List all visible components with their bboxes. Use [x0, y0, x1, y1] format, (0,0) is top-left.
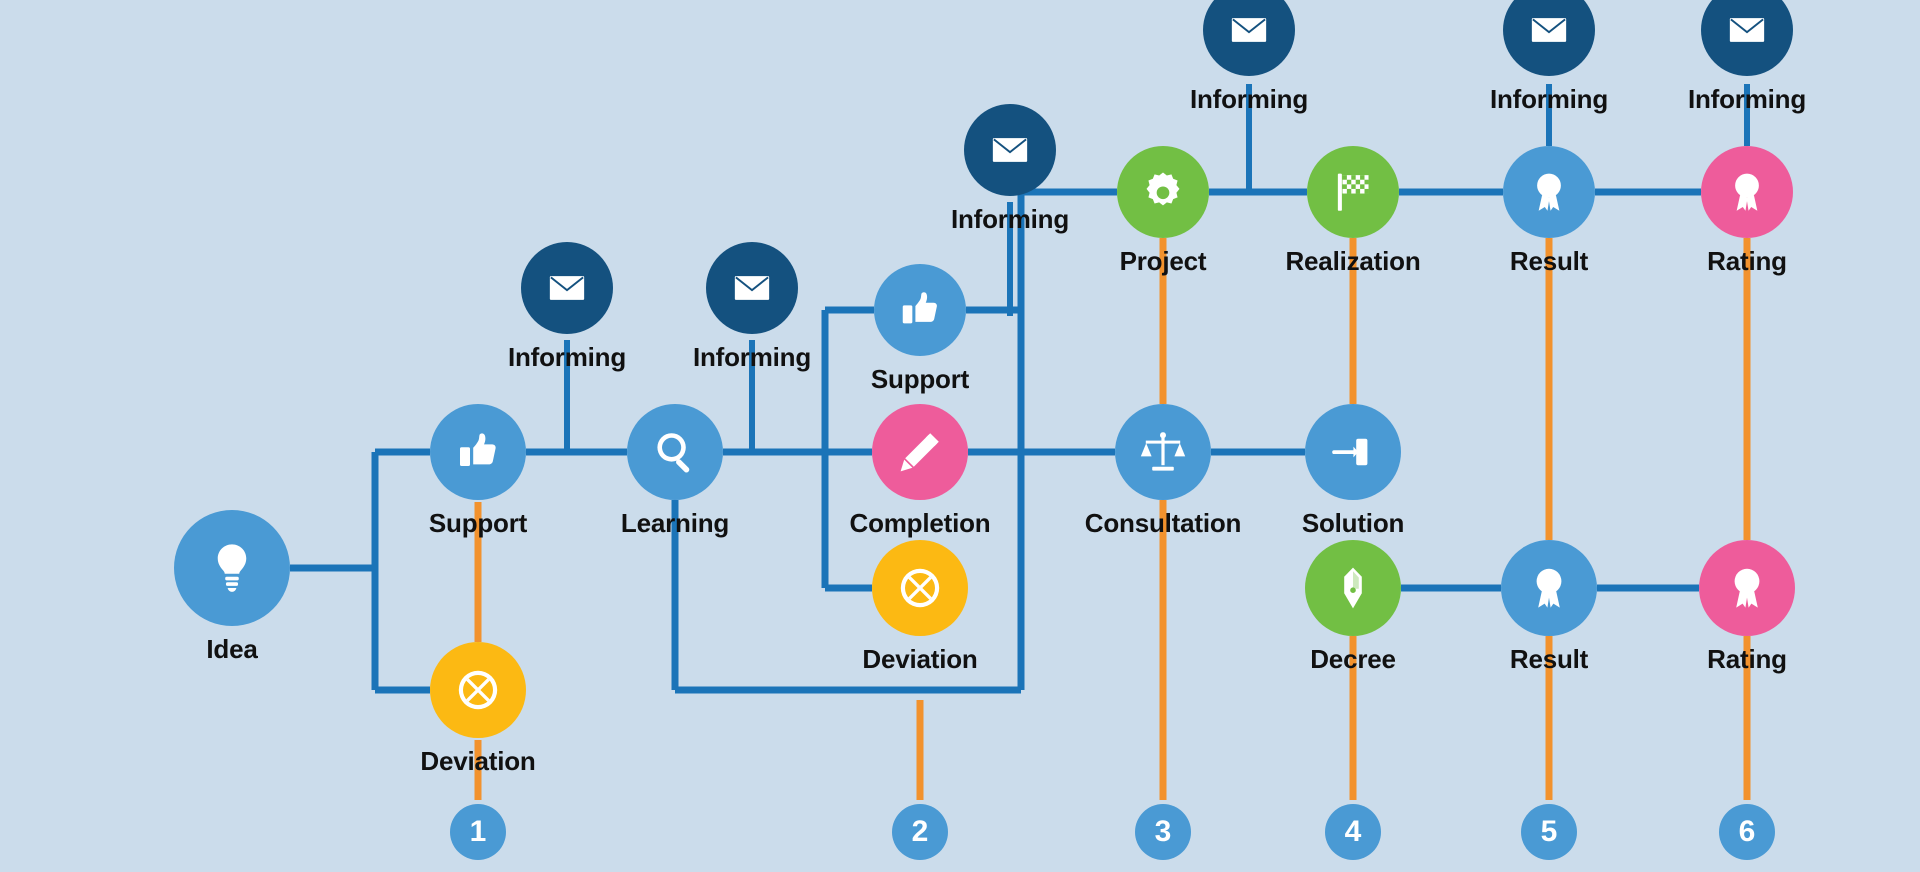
- node-label-consultation: Consultation: [1085, 508, 1241, 539]
- diagram-canvas: Idea Support Informing Deviation Learnin…: [0, 0, 1920, 872]
- node-label-deviation1: Deviation: [420, 746, 535, 777]
- step-number-3[interactable]: 3: [1135, 804, 1191, 860]
- flow-node-informing2[interactable]: Informing: [706, 242, 798, 334]
- node-label-support2: Support: [871, 364, 969, 395]
- envelope-icon: [1228, 9, 1270, 51]
- step-number-4[interactable]: 4: [1325, 804, 1381, 860]
- node-circle-consultation[interactable]: [1115, 404, 1211, 500]
- thumbs-up-icon: [897, 287, 943, 333]
- flow-node-solution[interactable]: Solution: [1305, 404, 1401, 500]
- node-label-informing2: Informing: [693, 342, 811, 373]
- envelope-icon: [1726, 9, 1768, 51]
- node-circle-project[interactable]: [1117, 146, 1209, 238]
- node-label-informing5: Informing: [1490, 84, 1608, 115]
- flow-node-deviation1[interactable]: Deviation: [430, 642, 526, 738]
- node-label-decree: Decree: [1310, 644, 1396, 675]
- node-circle-completion[interactable]: [872, 404, 968, 500]
- flag-icon: [1330, 169, 1376, 215]
- node-label-informing4: Informing: [1190, 84, 1308, 115]
- gear-icon: [1140, 169, 1186, 215]
- node-label-solution: Solution: [1302, 508, 1404, 539]
- node-circle-deviation1[interactable]: [430, 642, 526, 738]
- node-circle-support1[interactable]: [430, 404, 526, 500]
- step-number-6[interactable]: 6: [1719, 804, 1775, 860]
- flow-node-rating_top[interactable]: Rating: [1701, 146, 1793, 238]
- magnifier-icon: [651, 428, 699, 476]
- step-number-1[interactable]: 1: [450, 804, 506, 860]
- node-circle-informing1[interactable]: [521, 242, 613, 334]
- node-circle-informing3[interactable]: [964, 104, 1056, 196]
- flow-node-support1[interactable]: Support: [430, 404, 526, 500]
- flow-node-result_bot[interactable]: Result: [1501, 540, 1597, 636]
- flow-node-result_top[interactable]: Result: [1503, 146, 1595, 238]
- node-label-result_bot: Result: [1510, 644, 1588, 675]
- node-label-informing6: Informing: [1688, 84, 1806, 115]
- node-circle-realization[interactable]: [1307, 146, 1399, 238]
- award-icon: [1525, 564, 1573, 612]
- node-circle-learning[interactable]: [627, 404, 723, 500]
- flow-node-realization[interactable]: Realization: [1307, 146, 1399, 238]
- node-label-project: Project: [1120, 246, 1207, 277]
- flow-node-informing3[interactable]: Informing: [964, 104, 1056, 196]
- scales-icon: [1139, 428, 1187, 476]
- node-circle-result_top[interactable]: [1503, 146, 1595, 238]
- flow-node-decree[interactable]: Decree: [1305, 540, 1401, 636]
- flow-node-support2[interactable]: Support: [874, 264, 966, 356]
- node-circle-informing2[interactable]: [706, 242, 798, 334]
- lightbulb-icon: [203, 539, 261, 597]
- flow-node-project[interactable]: Project: [1117, 146, 1209, 238]
- node-label-informing1: Informing: [508, 342, 626, 373]
- node-label-rating_bot: Rating: [1707, 644, 1787, 675]
- flow-node-informing6[interactable]: Informing: [1701, 0, 1793, 76]
- node-circle-decree[interactable]: [1305, 540, 1401, 636]
- node-circle-idea[interactable]: [174, 510, 290, 626]
- node-circle-solution[interactable]: [1305, 404, 1401, 500]
- node-label-rating_top: Rating: [1707, 246, 1787, 277]
- pencil-icon: [896, 428, 944, 476]
- node-label-support1: Support: [429, 508, 527, 539]
- node-circle-informing5[interactable]: [1503, 0, 1595, 76]
- node-circle-rating_top[interactable]: [1701, 146, 1793, 238]
- envelope-icon: [546, 267, 588, 309]
- step-number-2[interactable]: 2: [892, 804, 948, 860]
- flow-node-informing5[interactable]: Informing: [1503, 0, 1595, 76]
- step-number-5[interactable]: 5: [1521, 804, 1577, 860]
- award-icon: [1526, 169, 1572, 215]
- award-icon: [1723, 564, 1771, 612]
- node-label-learning: Learning: [621, 508, 729, 539]
- gavel-icon: [1329, 428, 1377, 476]
- node-label-realization: Realization: [1285, 246, 1420, 277]
- flow-node-consultation[interactable]: Consultation: [1115, 404, 1211, 500]
- node-circle-informing4[interactable]: [1203, 0, 1295, 76]
- node-circle-result_bot[interactable]: [1501, 540, 1597, 636]
- node-label-result_top: Result: [1510, 246, 1588, 277]
- thumbs-up-icon: [454, 428, 502, 476]
- x-circle-icon: [896, 564, 944, 612]
- envelope-icon: [731, 267, 773, 309]
- node-label-deviation2: Deviation: [862, 644, 977, 675]
- award-icon: [1724, 169, 1770, 215]
- node-circle-rating_bot[interactable]: [1699, 540, 1795, 636]
- flow-node-learning[interactable]: Learning: [627, 404, 723, 500]
- node-circle-support2[interactable]: [874, 264, 966, 356]
- node-label-completion: Completion: [850, 508, 991, 539]
- node-label-informing3: Informing: [951, 204, 1069, 235]
- flow-node-deviation2[interactable]: Deviation: [872, 540, 968, 636]
- flow-node-completion[interactable]: Completion: [872, 404, 968, 500]
- node-label-idea: Idea: [206, 634, 257, 665]
- node-circle-deviation2[interactable]: [872, 540, 968, 636]
- flow-node-idea[interactable]: Idea: [174, 510, 290, 626]
- pen-nib-icon: [1329, 564, 1377, 612]
- flow-node-informing4[interactable]: Informing: [1203, 0, 1295, 76]
- node-circle-informing6[interactable]: [1701, 0, 1793, 76]
- x-circle-icon: [454, 666, 502, 714]
- flow-node-rating_bot[interactable]: Rating: [1699, 540, 1795, 636]
- flow-node-informing1[interactable]: Informing: [521, 242, 613, 334]
- envelope-icon: [989, 129, 1031, 171]
- envelope-icon: [1528, 9, 1570, 51]
